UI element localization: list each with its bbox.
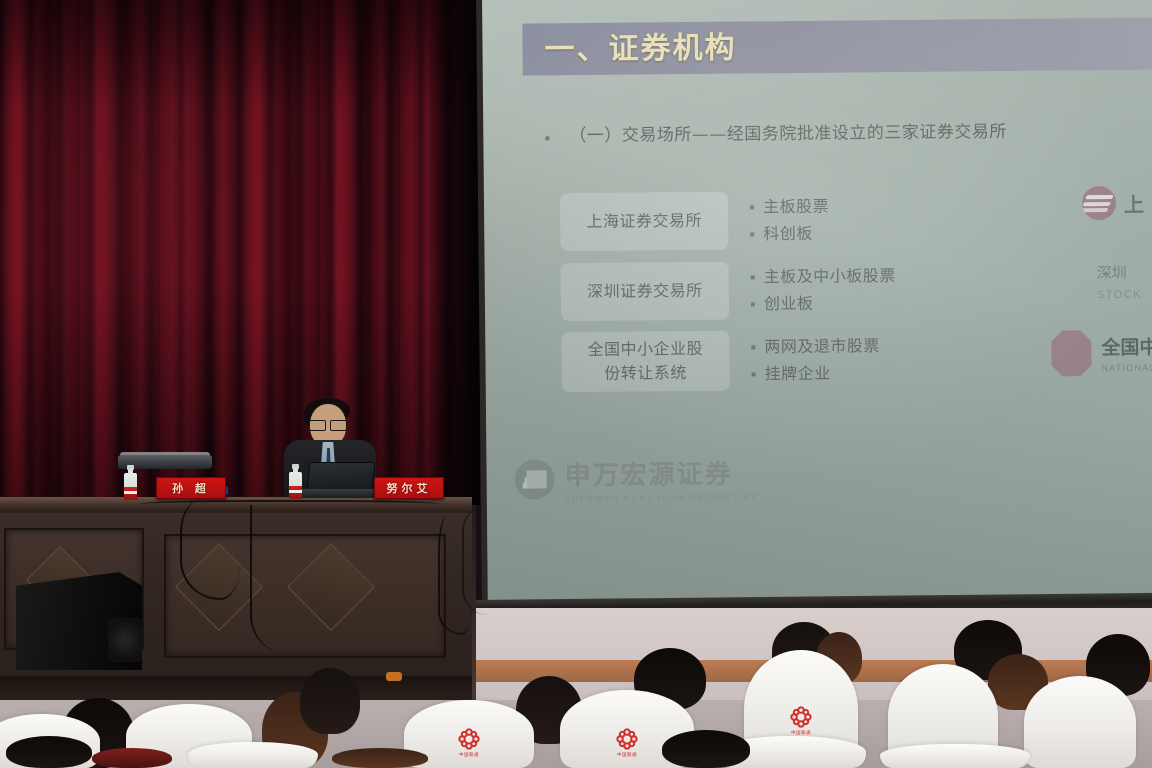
board-label: 创业板: [764, 292, 814, 314]
square-bullet-icon: [750, 205, 754, 209]
shenwan-hongyuan-logo: 申万宏源证券 SHENWAN HONGYUAN SECURITIES: [514, 453, 758, 503]
square-bullet-icon: [750, 232, 754, 236]
audience-head: [662, 730, 750, 768]
nameplate-text: 努尔艾: [387, 480, 432, 496]
china-unicom-logo: 中国联通: [614, 726, 640, 752]
cable: [250, 505, 296, 655]
board-label: 主板股票: [763, 195, 829, 218]
laptop-keyboard-base: [299, 489, 383, 498]
board-label: 挂牌企业: [765, 362, 831, 385]
audience-head: [92, 748, 172, 768]
neeq-octagon-logo: 全国中 NATIONAL: [1051, 330, 1152, 377]
bottle-body: [124, 473, 137, 499]
china-unicom-logo: 中国联通: [456, 726, 482, 752]
neeq-logo-text-group: 全国中 NATIONAL: [1101, 333, 1152, 374]
board-label: 主板及中小板股票: [764, 265, 896, 288]
eyeglasses-icon: [307, 420, 349, 429]
szse-logo-text-en: STOCK: [1097, 289, 1142, 301]
list-item: 主板股票: [750, 195, 829, 218]
nameplate: 努尔艾: [374, 477, 444, 499]
presentation-slide: 一、证券机构 （一）交易场所——经国务院批准设立的三家证券交易所 上海证券交易所…: [482, 0, 1152, 608]
list-item: 主板及中小板股票: [751, 265, 896, 288]
laptop-screen: [307, 462, 376, 492]
lecture-hall-photo: 一、证券机构 （一）交易场所——经国务院批准设立的三家证券交易所 上海证券交易所…: [0, 0, 1152, 768]
china-unicom-logo: 中国联通: [788, 704, 814, 730]
sse-circle-wave-logo: 上: [1082, 186, 1144, 221]
unicom-knot-icon: [788, 704, 814, 730]
exchange-boards: 主板股票 科创板: [750, 190, 830, 250]
slide-lead-bullet: （一）交易场所——经国务院批准设立的三家证券交易所: [569, 118, 1149, 150]
square-bullet-icon: [752, 372, 756, 376]
bottle-body: [289, 472, 302, 498]
red-stage-curtain: [0, 0, 472, 505]
nameplate-text: 孙 超: [172, 480, 210, 496]
water-bottle: [124, 465, 137, 499]
neeq-logo-text-en: NATIONAL: [1102, 363, 1152, 374]
neeq-mark-icon: [1051, 330, 1091, 376]
audience-head: [300, 668, 360, 734]
water-bottle: [289, 464, 302, 498]
cable: [462, 505, 488, 615]
szse-logo-text-cn: 深圳: [1097, 262, 1142, 283]
square-bullet-icon: [751, 275, 755, 279]
square-bullet-icon: [751, 345, 755, 349]
unicom-logo-text: 中国联通: [459, 752, 479, 758]
floor-object: [386, 672, 402, 681]
shenwan-logo-text-group: 申万宏源证券 SHENWAN HONGYUAN SECURITIES: [564, 453, 758, 503]
list-item: [880, 744, 1030, 768]
unicom-knot-icon: [456, 726, 482, 752]
list-item: 两网及退市股票: [751, 335, 880, 358]
exchange-table: 上海证券交易所 主板股票 科创板 深圳证券交易所: [560, 187, 982, 401]
audience-head: [6, 736, 92, 768]
projection-screen: 一、证券机构 （一）交易场所——经国务院批准设立的三家证券交易所 上海证券交易所…: [482, 0, 1152, 608]
table-row: 全国中小企业股 份转让系统 两网及退市股票 挂牌企业: [561, 327, 982, 393]
speaker-grille: [108, 618, 142, 662]
table-row: 深圳证券交易所 主板及中小板股票 创业板: [561, 257, 982, 323]
unicom-knot-icon: [614, 726, 640, 752]
list-item: 创业板: [751, 292, 896, 315]
audience-head: [332, 748, 428, 768]
list-item: 挂牌企业: [752, 362, 881, 385]
board-label: 科创板: [763, 222, 813, 244]
shenwan-logo-text-cn: 申万宏源证券: [564, 453, 758, 492]
exchange-boards: 两网及退市股票 挂牌企业: [751, 330, 880, 390]
shenwan-logo-text-en: SHENWAN HONGYUAN SECURITIES: [565, 492, 758, 503]
sse-logo-text: 上: [1124, 188, 1144, 217]
bottle-label: [124, 487, 137, 500]
square-bullet-icon: [751, 302, 755, 306]
bullet-marker-icon: [545, 136, 549, 140]
slide-title: 一、证券机构: [544, 22, 1104, 73]
szse-wordmark-logo: 深圳 STOCK: [1097, 262, 1143, 301]
exchange-boards: 主板及中小板股票 创业板: [751, 260, 897, 320]
shenwan-mark-icon: [514, 459, 554, 499]
exchange-name: 上海证券交易所: [560, 192, 729, 252]
curtain-shadow-edge: [430, 0, 480, 505]
list-item: [188, 742, 318, 768]
list-item: [1024, 676, 1136, 768]
exchange-name: 深圳证券交易所: [561, 262, 730, 322]
sse-mark-icon: [1082, 186, 1116, 220]
neeq-logo-text-cn: 全国中: [1101, 333, 1152, 361]
cable: [180, 500, 240, 600]
nameplate: 孙 超: [156, 477, 226, 499]
bottle-label: [289, 486, 302, 499]
list-item: 科创板: [750, 222, 829, 245]
unicom-logo-text: 中国联通: [617, 752, 637, 758]
board-label: 两网及退市股票: [764, 335, 880, 358]
exchange-name: 全国中小企业股 份转让系统: [561, 331, 730, 393]
table-row: 上海证券交易所 主板股票 科创板: [560, 187, 981, 253]
